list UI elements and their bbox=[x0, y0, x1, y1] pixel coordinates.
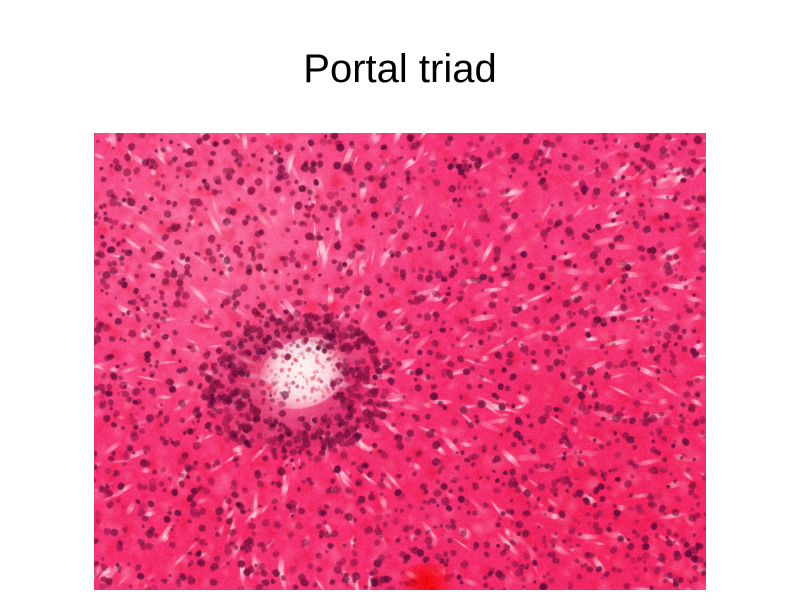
presentation-slide: Portal triad bbox=[0, 0, 800, 600]
micrograph-image bbox=[94, 133, 706, 590]
micrograph-canvas bbox=[94, 133, 706, 590]
page-title: Portal triad bbox=[0, 46, 800, 92]
